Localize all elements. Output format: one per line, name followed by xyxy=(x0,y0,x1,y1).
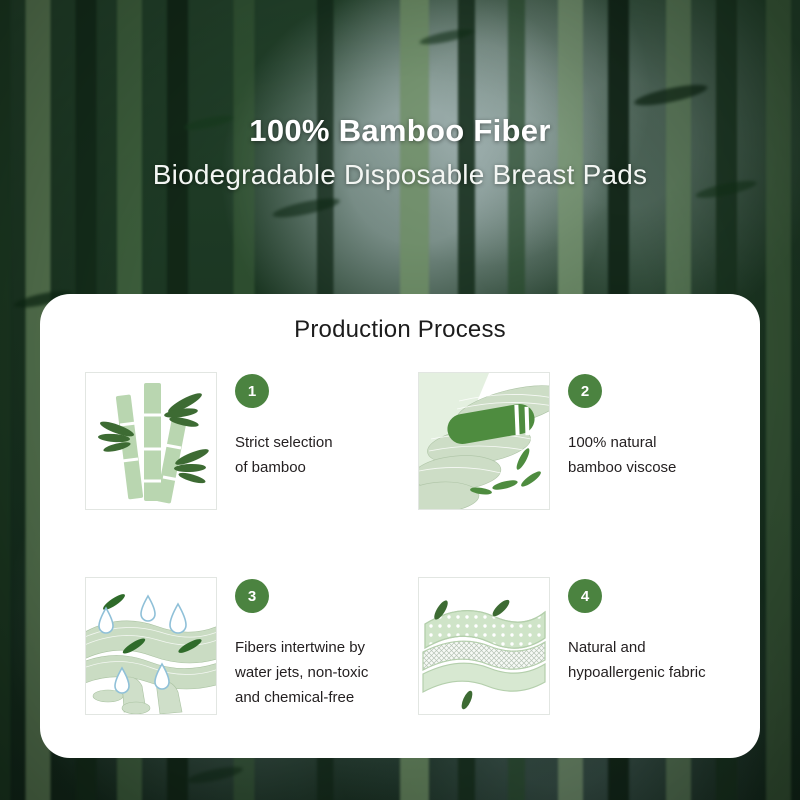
poster-canvas: 100% Bamboo Fiber Biodegradable Disposab… xyxy=(0,0,800,800)
hero-title: 100% Bamboo Fiber xyxy=(0,112,800,150)
card-title: Production Process xyxy=(40,316,760,344)
steps-grid: 1 Strict selection of bamboo xyxy=(40,372,760,715)
bamboo-stalks-illustration xyxy=(85,372,217,510)
step-3: 3 Fibers intertwine by water jets, non-t… xyxy=(85,577,375,715)
production-process-card: Production Process xyxy=(40,294,760,758)
hero-text-block: 100% Bamboo Fiber Biodegradable Disposab… xyxy=(0,112,800,192)
step-1-caption-line-2: of bamboo xyxy=(235,455,333,480)
layered-fabric-illustration xyxy=(418,577,550,715)
step-1-caption-line-1: Strict selection xyxy=(235,430,333,455)
step-3-caption: Fibers intertwine by water jets, non-tox… xyxy=(235,635,368,710)
step-1-badge: 1 xyxy=(235,374,269,408)
step-4-caption: Natural and hypoallergenic fabric xyxy=(568,635,706,685)
steps-row-1: 1 Strict selection of bamboo xyxy=(40,372,760,510)
step-3-caption-line-2: water jets, non-toxic xyxy=(235,660,368,685)
step-3-caption-line-3: and chemical-free xyxy=(235,685,368,710)
step-4: 4 Natural and hypoallergenic fabric xyxy=(418,577,708,715)
step-1-text: 1 Strict selection of bamboo xyxy=(235,372,333,480)
water-jet-fibers-illustration xyxy=(85,577,217,715)
step-4-caption-line-2: hypoallergenic fabric xyxy=(568,660,706,685)
steps-row-2: 3 Fibers intertwine by water jets, non-t… xyxy=(40,577,760,715)
step-2: 2 100% natural bamboo viscose xyxy=(418,372,708,510)
bamboo-viscose-fibers-illustration xyxy=(418,372,550,510)
step-4-badge: 4 xyxy=(568,579,602,613)
step-2-caption-line-1: 100% natural xyxy=(568,430,676,455)
step-2-caption-line-2: bamboo viscose xyxy=(568,455,676,480)
step-3-badge: 3 xyxy=(235,579,269,613)
step-4-text: 4 Natural and hypoallergenic fabric xyxy=(568,577,706,685)
step-3-text: 3 Fibers intertwine by water jets, non-t… xyxy=(235,577,368,710)
step-3-caption-line-1: Fibers intertwine by xyxy=(235,635,368,660)
step-4-caption-line-1: Natural and xyxy=(568,635,706,660)
hero-subtitle: Biodegradable Disposable Breast Pads xyxy=(0,158,800,192)
step-1: 1 Strict selection of bamboo xyxy=(85,372,375,510)
step-1-caption: Strict selection of bamboo xyxy=(235,430,333,480)
step-2-badge: 2 xyxy=(568,374,602,408)
step-2-caption: 100% natural bamboo viscose xyxy=(568,430,676,480)
step-2-text: 2 100% natural bamboo viscose xyxy=(568,372,676,480)
